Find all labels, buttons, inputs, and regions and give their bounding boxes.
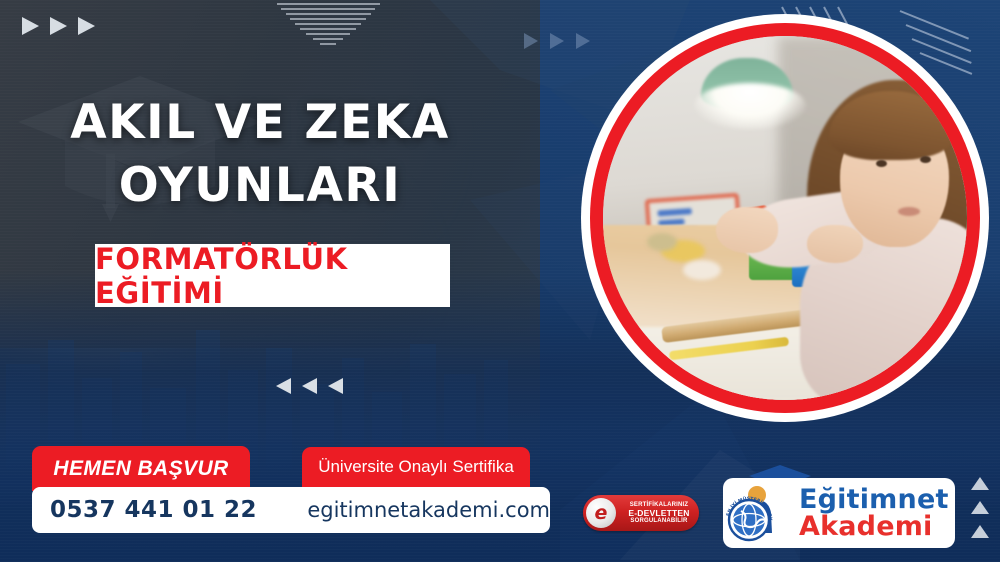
headline-line-1: AKIL VE ZEKA — [70, 95, 450, 150]
child-hand — [716, 207, 778, 253]
triangle-right-icon — [22, 17, 39, 35]
edevlet-line-2: E-DEVLETTEN — [620, 509, 698, 518]
headline: AKIL VE ZEKA OYUNLARI — [0, 92, 520, 218]
triangle-right-icon — [50, 17, 67, 35]
brand-logo[interactable]: EN İYİ MÜŞTERİ DENEYİMİ Eğitimnet Akadem… — [723, 478, 955, 548]
certificate-label: Üniversite Onaylı Sertifika — [318, 457, 514, 477]
triangle-right-outline-icon — [550, 33, 564, 49]
triangle-right-icon — [78, 17, 95, 35]
contact-bar: 0537 441 01 22 egitimnetakademi.com — [32, 487, 550, 533]
logo-name-top: Eğitimnet — [799, 486, 949, 513]
website-link[interactable]: egitimnetakademi.com — [307, 498, 550, 522]
triangle-up-icon — [971, 525, 989, 538]
triangle-right-outline-icon — [524, 33, 538, 49]
headline-line-2: OYUNLARI — [0, 155, 520, 218]
edevlet-verification-badge: e SERTİFİKALARINIZ E-DEVLETTEN SORGULANA… — [583, 495, 699, 531]
logo-name-bottom: Akademi — [799, 513, 949, 540]
triangle-left-icon — [276, 378, 291, 394]
subtitle-text: FORMATÖRLÜK EĞİTİMİ — [95, 242, 450, 310]
child-hand — [807, 225, 863, 263]
triangle-up-icon — [971, 501, 989, 514]
globe-graduate-emblem-icon: EN İYİ MÜŞTERİ DENEYİMİ — [723, 478, 797, 548]
logo-emblem: EN İYİ MÜŞTERİ DENEYİMİ — [723, 478, 797, 548]
triangle-left-icon — [328, 378, 343, 394]
edevlet-logo-icon: e — [586, 498, 616, 528]
edevlet-line-3: SORGULANABİLİR — [620, 518, 698, 524]
photo-circle-frame — [581, 14, 989, 422]
triangle-up-icon — [971, 477, 989, 490]
triangle-left-icon — [302, 378, 317, 394]
phone-number[interactable]: 0537 441 01 22 — [50, 497, 307, 523]
photo-child-playing-blocks — [603, 36, 967, 400]
stripe-wedge-decoration — [272, 0, 384, 52]
apply-now-button[interactable]: HEMEN BAŞVUR — [32, 446, 250, 491]
certificate-badge: Üniversite Onaylı Sertifika — [302, 447, 530, 487]
apply-now-label: HEMEN BAŞVUR — [53, 457, 228, 481]
subtitle-box: FORMATÖRLÜK EĞİTİMİ — [95, 244, 450, 307]
edevlet-logo-letter: e — [595, 504, 608, 523]
promotional-banner: AKIL VE ZEKA OYUNLARI FORMATÖRLÜK EĞİTİM… — [0, 0, 1000, 562]
triangle-right-outline-icon — [576, 33, 590, 49]
